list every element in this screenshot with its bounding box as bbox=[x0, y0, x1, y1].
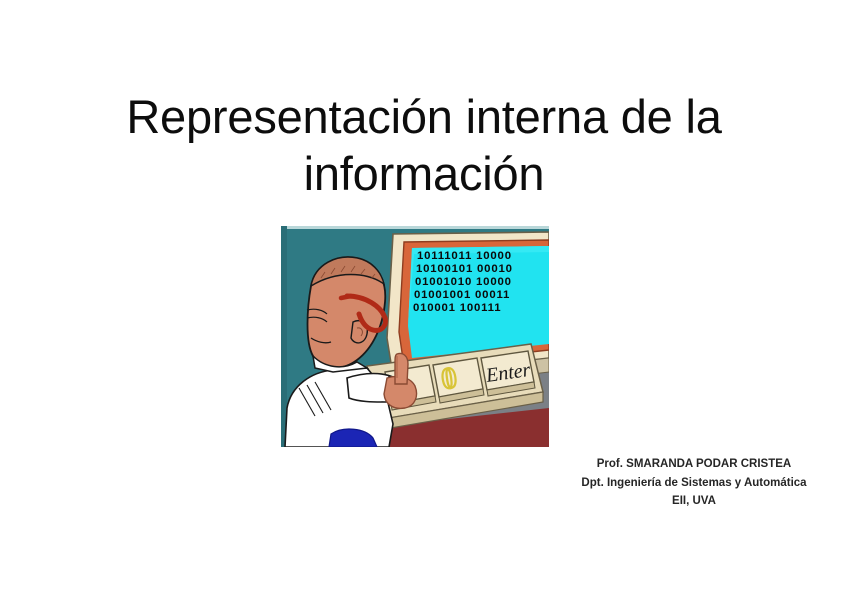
author-credit-block: Prof. SMARANDA PODAR CRISTEA Dpt. Ingeni… bbox=[548, 455, 840, 511]
binary-row-2: 10100101 00010 bbox=[416, 263, 513, 275]
page-title-line-2: información bbox=[84, 145, 764, 202]
binary-row-3: 01001010 10000 bbox=[415, 276, 512, 288]
binary-computer-cartoon-image: 10111011 10000 10100101 00010 01001010 1… bbox=[281, 226, 549, 447]
keyboard-key-enter[interactable]: Enter bbox=[481, 351, 535, 396]
binary-row-1: 10111011 10000 bbox=[417, 250, 512, 262]
screen-binary-text: 10111011 10000 10100101 00010 01001010 1… bbox=[413, 250, 513, 314]
page-title: Representación interna de la información bbox=[84, 88, 764, 202]
cartoon-svg: 10111011 10000 10100101 00010 01001010 1… bbox=[281, 226, 549, 447]
author-name: Prof. SMARANDA PODAR CRISTEA bbox=[548, 455, 840, 474]
author-institution: EII, UVA bbox=[548, 492, 840, 511]
keyboard-key-0[interactable]: 0 bbox=[433, 358, 484, 403]
page-title-line-1: Representación interna de la bbox=[84, 88, 764, 145]
wall-top-highlight bbox=[281, 226, 549, 229]
binary-row-5: 010001 100111 bbox=[413, 302, 501, 314]
author-department: Dpt. Ingeniería de Sistemas y Automática bbox=[548, 474, 840, 493]
binary-row-4: 01001001 00011 bbox=[414, 289, 510, 301]
glasses-lens-edge bbox=[341, 296, 351, 298]
